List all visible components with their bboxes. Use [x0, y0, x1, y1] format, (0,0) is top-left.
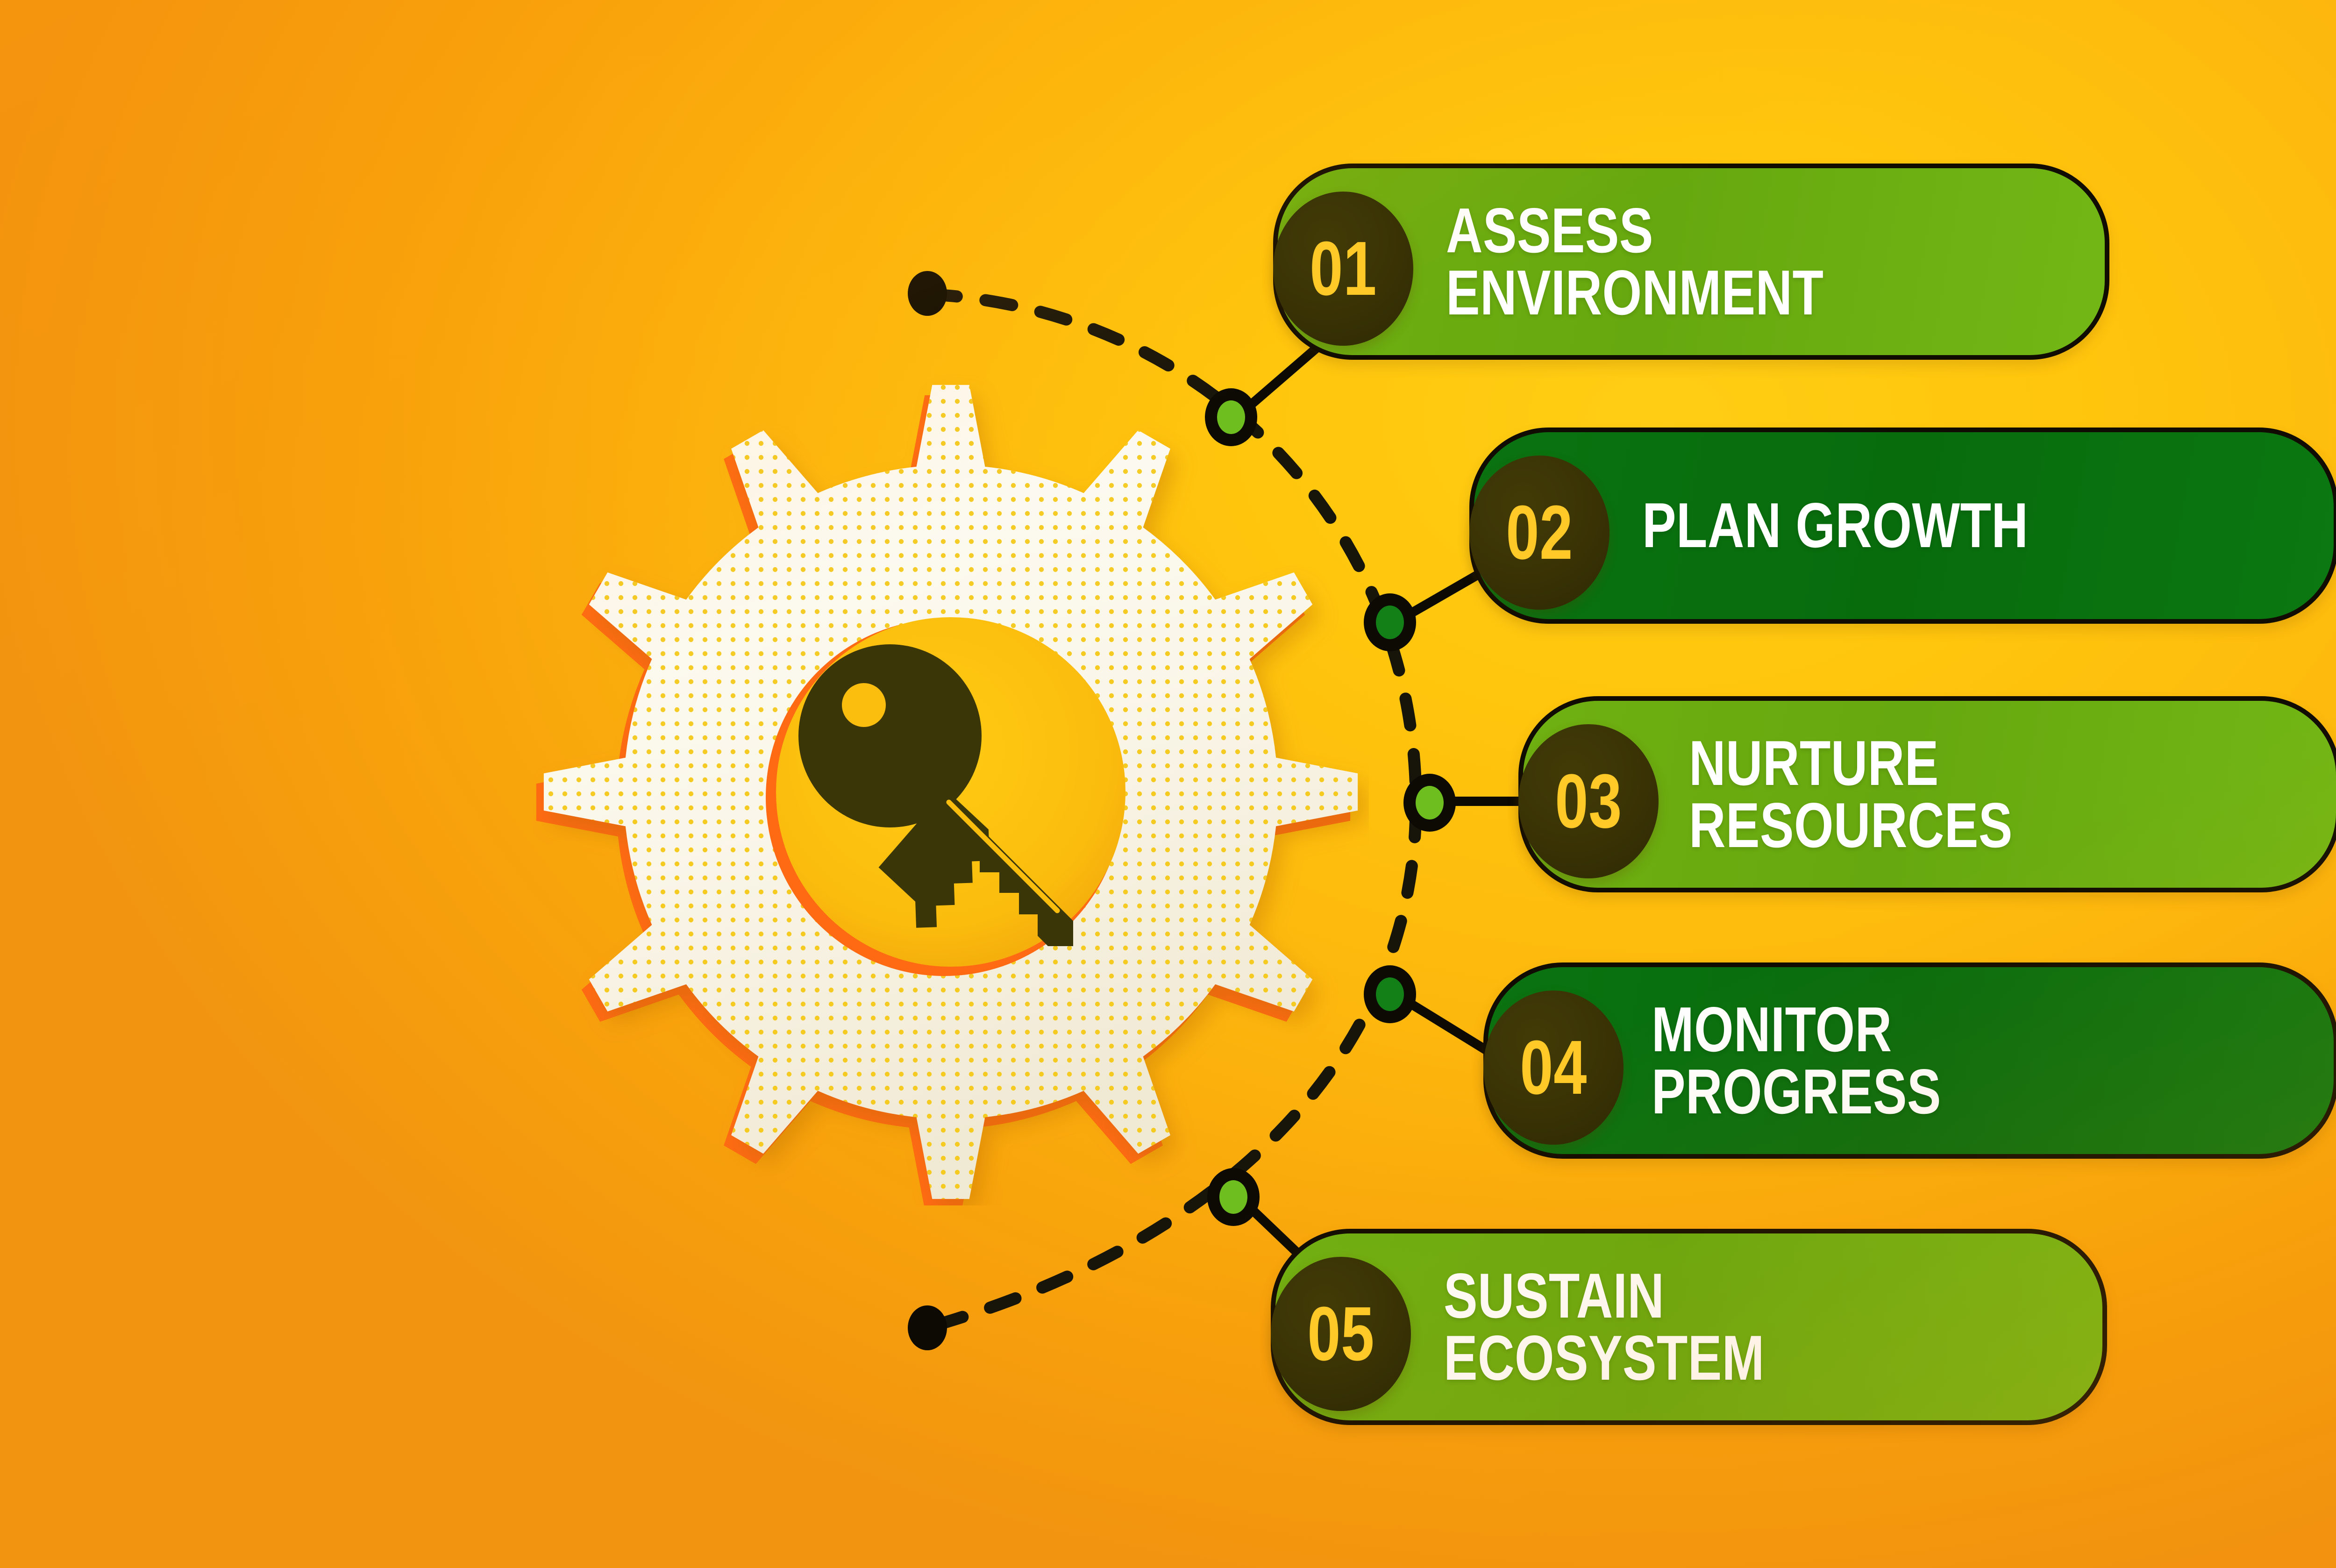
- step-number-4: 04: [1520, 1029, 1587, 1106]
- step-label-1: ASSESS ENVIRONMENT: [1446, 200, 1823, 324]
- step-badge-1[interactable]: 01: [1273, 192, 1413, 346]
- arc-node-1[interactable]: [1205, 388, 1257, 446]
- step-number-3: 03: [1555, 763, 1622, 840]
- step-label-5: SUSTAIN ECOSYSTEM: [1444, 1265, 1765, 1390]
- step-number-5: 05: [1307, 1296, 1375, 1372]
- step-number-2: 02: [1506, 494, 1573, 571]
- step-label-3: NURTURE RESOURCES: [1689, 732, 2013, 857]
- step-badge-3[interactable]: 03: [1518, 724, 1659, 878]
- step-label-2: PLAN GROWTH: [1642, 494, 2028, 556]
- step-badge-2[interactable]: 02: [1469, 456, 1610, 610]
- step-number-1: 01: [1310, 230, 1377, 307]
- step-badge-4[interactable]: 04: [1483, 991, 1624, 1145]
- infographic-canvas: ASSESS ENVIRONMENT 01 PLAN GROWTH 02 NUR…: [0, 0, 2336, 1568]
- arc-node-4[interactable]: [1364, 965, 1416, 1023]
- step-label-4: MONITOR PROGRESS: [1652, 998, 1941, 1123]
- step-row-5[interactable]: SUSTAIN ECOSYSTEM 05: [1271, 1229, 2107, 1425]
- arc-node-2[interactable]: [1364, 593, 1416, 651]
- step-badge-5[interactable]: 05: [1271, 1257, 1411, 1411]
- arc-node-5[interactable]: [1207, 1168, 1260, 1226]
- arc-node-3[interactable]: [1403, 774, 1456, 832]
- step-row-3[interactable]: NURTURE RESOURCES 03: [1518, 696, 2336, 892]
- dashed-arc: [930, 294, 1416, 1327]
- step-row-4[interactable]: MONITOR PROGRESS 04: [1483, 962, 2336, 1159]
- step-row-2[interactable]: PLAN GROWTH 02: [1469, 428, 2336, 624]
- step-row-1[interactable]: ASSESS ENVIRONMENT 01: [1273, 164, 2109, 360]
- arc-endpoint-dot-bottom: [908, 1305, 947, 1350]
- arc-endpoint-dot-top: [908, 271, 947, 316]
